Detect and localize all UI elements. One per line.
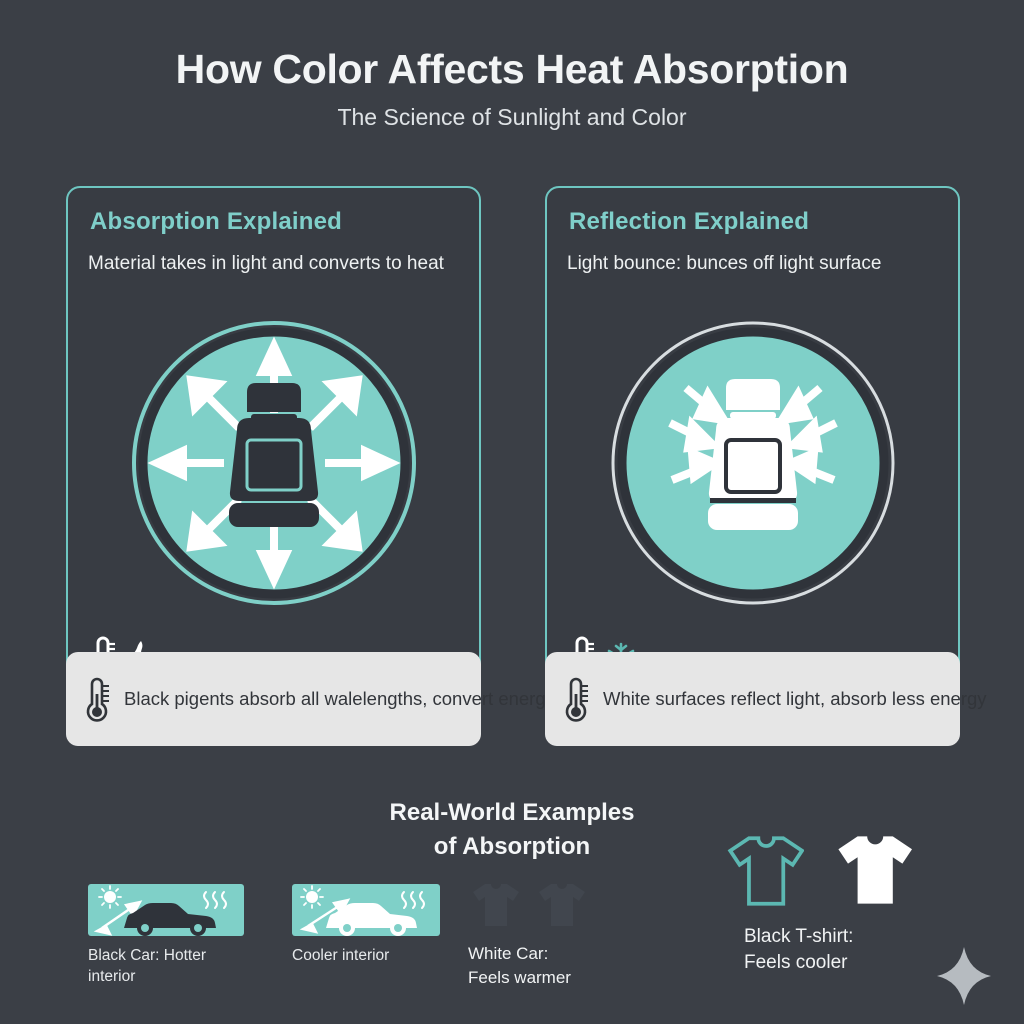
tshirt-icon (534, 880, 586, 930)
fact-panel-absorption: Black pigents absorb all walelengths, co… (66, 652, 481, 746)
white-car-thumbnail (292, 884, 440, 936)
fact-text-reflection: White surfaces reflect light, absorb les… (603, 686, 987, 712)
tshirt-icon (830, 830, 914, 910)
example-label-black-car: Black Car: Hotter interior (88, 945, 248, 987)
example-black-tshirt: Black T-shirt: Feels cooler (722, 830, 914, 976)
fact-panel-reflection: White surfaces reflect light, absorb les… (545, 652, 960, 746)
example-label-white-car: Cooler interior (292, 945, 442, 966)
thermometer-icon (84, 674, 110, 724)
example-black-car: Black Car: Hotter interior (88, 884, 248, 987)
black-car-thumbnail (88, 884, 244, 936)
tshirt-outline-icon (722, 832, 804, 910)
tshirt-icon (468, 880, 520, 930)
absorption-circle-svg (129, 318, 419, 608)
sun-icon (301, 886, 323, 908)
example-label-white-car-shirts-line2: Feels warmer (468, 966, 586, 990)
card-reflection-description: Light bounce: bunces off light surface (567, 250, 937, 277)
thermometer-icon (563, 674, 589, 724)
fact-text-absorption: Black pigents absorb all walelengths, co… (124, 686, 617, 712)
example-white-car: Cooler interior (292, 884, 442, 966)
example-label-black-tshirt: Black T-shirt: Feels cooler (744, 924, 914, 976)
absorption-illustration (68, 318, 479, 618)
real-world-heading-line1: Real-World Examples (0, 796, 1024, 830)
example-label-black-tshirt-line2: Feels cooler (744, 950, 914, 976)
sun-icon (99, 886, 121, 908)
card-absorption-title: Absorption Explained (90, 208, 342, 236)
sparkle-icon (935, 945, 993, 1007)
example-white-car-shirts: White Car: Feels warmer (468, 880, 586, 990)
infographic-canvas: How Color Affects Heat Absorption The Sc… (0, 0, 1024, 1024)
card-absorption-description: Material takes in light and converts to … (88, 250, 458, 277)
card-reflection-title: Reflection Explained (569, 208, 809, 236)
example-label-white-car-shirts-line1: White Car: (468, 942, 586, 966)
reflection-illustration (547, 318, 958, 618)
reflection-circle-svg (608, 318, 898, 608)
page-subtitle: The Science of Sunlight and Color (0, 104, 1024, 131)
page-title: How Color Affects Heat Absorption (0, 46, 1024, 93)
example-label-black-tshirt-line1: Black T-shirt: (744, 924, 914, 950)
